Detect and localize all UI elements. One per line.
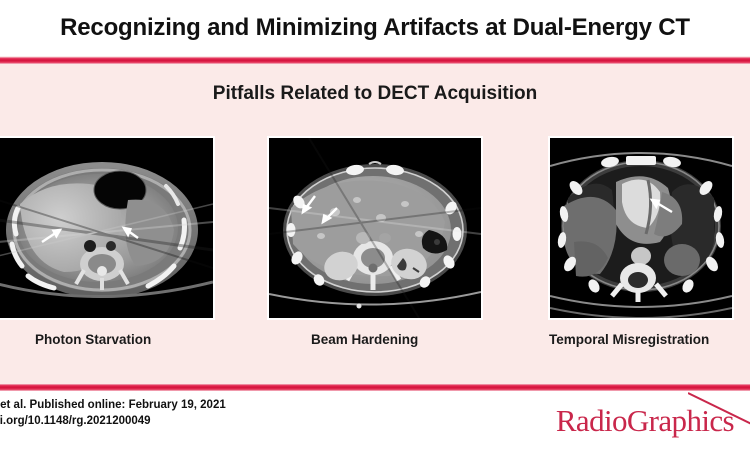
divider-rule-bottom <box>0 384 750 391</box>
figure-caption-temporal-misregistration: Temporal Misregistration <box>549 332 709 347</box>
radiographics-logo: RadioGraphics <box>556 403 734 439</box>
ct-image-photon-starvation <box>0 138 213 318</box>
ct-image-temporal-misregistration <box>550 138 732 318</box>
citation-block: rakh A et al. Published online: February… <box>0 397 226 429</box>
figure-caption-beam-hardening: Beam Hardening <box>311 332 418 347</box>
citation-line-1: rakh A et al. Published online: February… <box>0 397 226 413</box>
subtitle: Pitfalls Related to DECT Acquisition <box>213 83 537 105</box>
figure-caption-photon-starvation: Photon Starvation <box>35 332 151 347</box>
figure-row <box>0 136 750 324</box>
footer: rakh A et al. Published online: February… <box>0 391 750 450</box>
ct-image-beam-hardening <box>269 138 481 318</box>
divider-rule-top <box>0 57 750 64</box>
caption-row: Photon Starvation Beam Hardening Tempora… <box>0 332 750 360</box>
title-band: Recognizing and Minimizing Artifacts at … <box>0 0 750 56</box>
citation-doi-line[interactable]: ps://doi.org/10.1148/rg.2021200049 <box>0 413 226 429</box>
figure-panel-photon-starvation <box>0 136 215 320</box>
poster-slide: Recognizing and Minimizing Artifacts at … <box>0 0 750 450</box>
page-title: Recognizing and Minimizing Artifacts at … <box>60 14 690 42</box>
subtitle-band: Pitfalls Related to DECT Acquisition <box>0 64 750 124</box>
figure-panel-temporal-misregistration <box>548 136 734 320</box>
figure-panel-beam-hardening <box>267 136 483 320</box>
